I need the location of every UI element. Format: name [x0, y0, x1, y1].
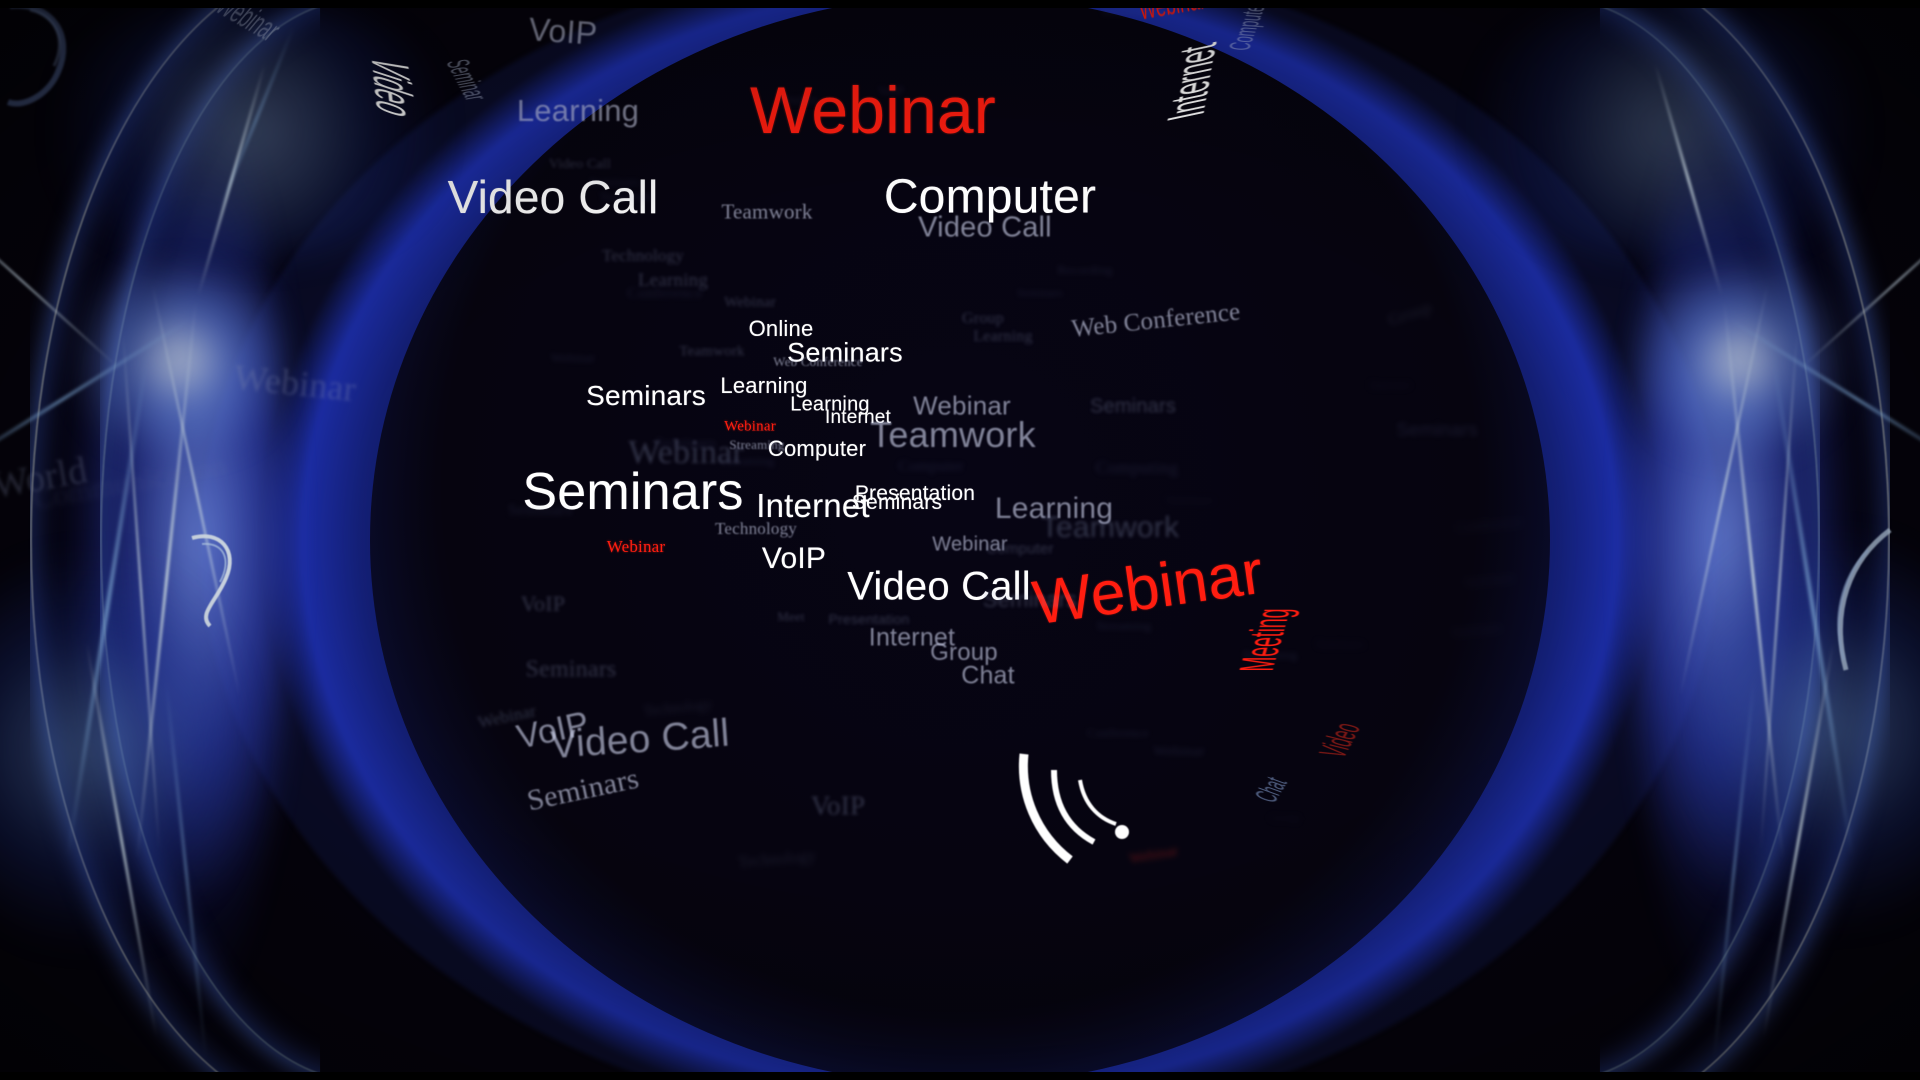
plasma-swirl-top-left	[0, 0, 140, 120]
cloud-word: Seminars	[586, 380, 706, 412]
cloud-word: Conference	[1456, 515, 1524, 538]
cloud-word: Learning	[973, 328, 1032, 346]
cloud-word: Video Call	[549, 157, 611, 173]
cloud-word: VoIP	[528, 11, 599, 53]
plasma-glow-upper-right	[1460, 0, 1880, 260]
cloud-word: Webinar	[1029, 537, 1268, 639]
cloud-word: Seminars	[1315, 636, 1365, 652]
plasma-streak	[218, 27, 295, 213]
cloud-word: Teamwork	[600, 190, 653, 205]
cloud-word: Seminars	[1451, 619, 1502, 640]
plasma-streak	[165, 681, 207, 1059]
cloud-word: VoIP	[878, 83, 905, 99]
cloud-word: Webinar	[724, 295, 776, 312]
cloud-word: Presentation	[855, 482, 975, 506]
cloud-word: Teamwork	[870, 414, 1036, 456]
limb-word: Computer	[1223, 1, 1274, 52]
cloud-word: Recording	[1057, 262, 1113, 278]
cloud-word: Teamwork	[1041, 511, 1179, 545]
plasma-arrow-right	[1790, 520, 1910, 680]
globe-rim-right	[1630, 0, 1920, 1080]
plasma-streak	[1772, 363, 1854, 857]
limb-word: Internet	[1155, 39, 1229, 125]
cloud-word: Seminars	[526, 657, 617, 684]
cloud-word: Internet	[1369, 377, 1411, 393]
cloud-word: Communication	[31, 449, 230, 517]
plasma-streak	[1713, 681, 1755, 1059]
cloud-word: VoIP	[513, 704, 592, 757]
energy-arc-right-inner	[1296, 0, 1820, 1080]
cloud-word: Seminars	[1165, 492, 1215, 508]
energy-arc-left-inner	[100, 0, 624, 1080]
cloud-word: Technology	[643, 697, 712, 720]
cloud-word: Video Call	[918, 212, 1052, 245]
plasma-streak	[151, 284, 240, 695]
cloud-word: Group	[962, 310, 1004, 328]
word-cloud: WebinarComputerVideo CallSeminarsVideo C…	[0, 0, 1920, 1080]
cloud-word: Seminars	[522, 462, 743, 522]
cloud-word: Presentation	[828, 611, 909, 627]
globe-rim-left	[0, 0, 290, 1080]
plasma-loop-bottom-right	[1010, 750, 1140, 870]
letterbox-top	[0, 0, 1920, 8]
plasma-flare-bottom-left	[0, 540, 240, 960]
cloud-word: Webinar	[913, 391, 1011, 422]
cloud-word: Learning	[517, 93, 639, 129]
cloud-word: World	[0, 448, 91, 508]
cloud-word: Teamwork	[721, 200, 812, 225]
cloud-word: Streaming	[729, 437, 784, 453]
cloud-word: Webinar	[607, 537, 666, 557]
cloud-word: Learning	[790, 394, 869, 417]
plasma-streak	[1760, 331, 1798, 850]
cloud-word: Streaming	[719, 453, 774, 469]
vignette-overlay	[0, 0, 1920, 1080]
plasma-streak	[136, 301, 198, 858]
letterbox-bottom	[0, 1072, 1920, 1080]
cloud-word: Seminars	[1396, 420, 1478, 442]
plasma-streak	[1762, 643, 1834, 1037]
cloud-word: Seminars	[508, 500, 573, 520]
cloud-word: Seminars	[655, 435, 716, 453]
energy-arc-left-outer	[30, 0, 654, 1080]
cloud-word: Webinar	[724, 419, 776, 436]
cloud-word: Webinar	[1153, 744, 1205, 761]
cloud-word: Seminars	[983, 587, 1078, 613]
energy-arc-right-outer	[1266, 0, 1890, 1080]
globe-sphere	[200, 0, 1720, 1080]
cloud-word: Online	[749, 316, 814, 342]
cloud-word: Technology	[715, 519, 797, 539]
cloud-word: Internet	[869, 624, 955, 653]
plasma-streak	[66, 363, 148, 857]
cloud-word: Learning	[995, 492, 1113, 526]
plasma-streak	[122, 331, 160, 850]
plasma-flare-top-left	[60, 270, 300, 450]
cloud-word: Computer	[898, 458, 964, 476]
cloud-word: Seminars	[787, 338, 903, 369]
globe-core-shadow	[370, 0, 1550, 1080]
plasma-streak	[0, 192, 118, 367]
cloud-word: Internet	[756, 487, 870, 525]
cloud-word: VoIP	[811, 791, 865, 822]
cloud-word: Webinar	[232, 356, 358, 411]
cloud-word: Seminars	[1017, 286, 1063, 301]
plasma-flare-top-right	[1620, 270, 1860, 450]
cloud-word: Computing	[1096, 458, 1179, 479]
plasma-streak	[1730, 319, 1920, 481]
cloud-word: Conference	[627, 285, 703, 303]
cloud-word: Internet	[825, 407, 891, 429]
cloud-word: Webinar	[628, 434, 744, 472]
cloud-word: Webinar	[1129, 844, 1180, 868]
word-cloud-globe-scene: WebinarComputerVideo CallSeminarsVideo C…	[0, 0, 1920, 1080]
cloud-word: Meet	[777, 609, 805, 625]
cloud-word: Webinar	[550, 350, 595, 366]
cloud-word: Webinar	[750, 72, 996, 148]
cloud-word: VoIP	[762, 542, 826, 576]
cloud-word: Technology	[602, 246, 684, 266]
plasma-loop-left	[180, 530, 260, 630]
cloud-word: Video Call	[448, 170, 659, 224]
cloud-word: Seminars	[524, 762, 642, 819]
cloud-word: Video Call	[549, 712, 731, 768]
cloud-word: Learning	[638, 270, 708, 292]
cloud-word: Seminars	[1464, 569, 1515, 590]
cloud-word: Web Conference	[1070, 298, 1241, 344]
cloud-word: Chat	[961, 662, 1015, 691]
limb-word: Seminar	[438, 57, 494, 103]
cloud-word: Computer	[884, 170, 1096, 225]
cloud-word: Web Conference	[773, 354, 862, 370]
cloud-word: Learning	[720, 373, 807, 399]
cloud-word: VoIP	[521, 591, 565, 617]
limb-word-layer: VideoSeminarInternetComputerWebinarMeeti…	[0, 0, 1920, 1080]
cloud-word: Webinar	[932, 534, 1008, 557]
plasma-flare-bottom-right	[1680, 520, 1920, 940]
cloud-word: Streaming	[1242, 647, 1297, 663]
limb-word: Video	[358, 50, 426, 125]
plasma-streak	[1679, 284, 1768, 695]
background-layer	[0, 0, 1920, 1080]
limb-word: Chat	[1249, 773, 1295, 806]
cloud-word: Seminars	[589, 174, 639, 190]
cloud-word: Video Call	[847, 565, 1031, 610]
cloud-word: Seminars	[1090, 396, 1176, 419]
cloud-word: Teamwork	[679, 344, 745, 361]
cloud-word: Online	[782, 92, 819, 108]
plasma-streak	[1723, 301, 1785, 858]
cloud-word: Group	[930, 639, 998, 667]
cloud-word: Webinar	[476, 701, 537, 733]
plasma-streak	[1802, 192, 1920, 367]
plasma-streak	[197, 64, 266, 296]
plasma-streak	[1654, 64, 1723, 296]
plasma-streak	[85, 643, 157, 1037]
cloud-word: Group	[1386, 298, 1434, 331]
limb-word: Meeting	[1228, 609, 1302, 672]
plasma-streak	[0, 319, 190, 481]
plasma-glow-upper-left	[40, 0, 460, 260]
cloud-word: Computer	[986, 541, 1053, 558]
cloud-word: Conference	[1087, 725, 1149, 741]
cloud-word: Seminars	[852, 491, 942, 515]
cloud-word: Streaming	[1096, 618, 1151, 634]
cloud-word: Group	[1269, 811, 1301, 826]
cloud-word: Technology	[738, 848, 817, 873]
cloud-word: Computer	[768, 436, 866, 462]
limb-word: Video	[1310, 719, 1369, 762]
